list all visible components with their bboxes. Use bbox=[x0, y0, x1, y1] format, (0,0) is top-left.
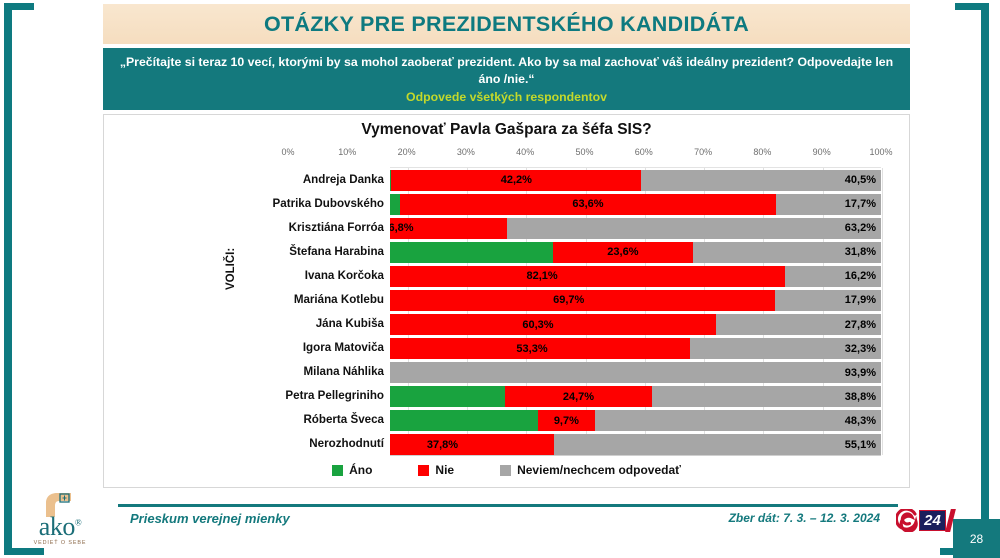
bar-segment-nie: 53,3% bbox=[374, 338, 690, 359]
question-subtitle: Odpovede všetkých respondentov bbox=[406, 90, 607, 104]
x-tick-label: 50% bbox=[575, 147, 593, 157]
bar-segment-nie: 69,7% bbox=[362, 290, 775, 311]
bar-segment-nie: 23,6% bbox=[553, 242, 693, 263]
legend-item: Áno bbox=[332, 463, 372, 477]
category-label: Milana Náhlika bbox=[303, 361, 384, 382]
bar-value-label: 40,5% bbox=[641, 174, 881, 186]
bar-value-label: 42,2% bbox=[391, 174, 641, 186]
legend-label: Nie bbox=[435, 463, 454, 477]
legend-swatch-icon bbox=[332, 465, 343, 476]
legend-item: Neviem/nechcem odpovedať bbox=[500, 463, 681, 477]
bar-segment-neviem: 17,9% bbox=[775, 290, 881, 311]
x-tick-label: 90% bbox=[813, 147, 831, 157]
category-label: Róberta Šveca bbox=[303, 409, 384, 430]
x-tick-label: 40% bbox=[516, 147, 534, 157]
x-tick-label: 60% bbox=[635, 147, 653, 157]
bar-value-label: 48,3% bbox=[595, 415, 881, 427]
legend-label: Neviem/nechcem odpovedať bbox=[517, 463, 681, 477]
bar-value-label: 69,7% bbox=[362, 294, 775, 306]
category-label: Ivana Korčoka bbox=[305, 265, 384, 286]
x-tick-label: 10% bbox=[338, 147, 356, 157]
bar-value-label: 63,2% bbox=[507, 222, 881, 234]
tv24-logo: 24 bbox=[896, 508, 956, 534]
chart-panel: Vymenovať Pavla Gašpara za šéfa SIS? 0%1… bbox=[103, 114, 910, 488]
bar-segment-neviem: 32,3% bbox=[690, 338, 881, 359]
bar-value-label: 27,8% bbox=[716, 319, 881, 331]
bar-segment-neviem: 55,1% bbox=[554, 434, 881, 455]
bar-value-label: 53,3% bbox=[374, 343, 690, 355]
bar-segment-nie: 24,7% bbox=[505, 386, 651, 407]
bar-segment-nie: 42,2% bbox=[391, 170, 641, 191]
category-label: Nerozhodnutí bbox=[309, 433, 384, 454]
chart-legend: ÁnoNieNeviem/nechcem odpovedať bbox=[104, 463, 909, 477]
bar-segment-neviem: 38,8% bbox=[652, 386, 881, 407]
category-label: Jána Kubiša bbox=[316, 313, 384, 334]
legend-swatch-icon bbox=[418, 465, 429, 476]
ako-logo: ako® VEDIEŤ O SEBE bbox=[18, 492, 102, 554]
x-tick-label: 80% bbox=[753, 147, 771, 157]
bar-segment-nie: 9,7% bbox=[538, 410, 595, 431]
bar-segment-neviem: 40,5% bbox=[641, 170, 881, 191]
x-tick-label: 30% bbox=[457, 147, 475, 157]
bar-segment-neviem: 63,2% bbox=[507, 218, 881, 239]
bar-value-label: 63,6% bbox=[400, 198, 777, 210]
bar-value-label: 16,2% bbox=[785, 270, 881, 282]
bar-segment-neviem: 31,8% bbox=[693, 242, 881, 263]
x-tick-label: 70% bbox=[694, 147, 712, 157]
bar-value-label: 38,8% bbox=[652, 391, 881, 403]
frame-right-strip bbox=[981, 3, 989, 555]
slide-title-banner: OTÁZKY PRE PREZIDENTSKÉHO KANDIDÁTA bbox=[103, 4, 910, 44]
legend-swatch-icon bbox=[500, 465, 511, 476]
ako-logo-tagline: VEDIEŤ O SEBE bbox=[18, 540, 102, 546]
chart-x-axis: 0%10%20%30%40%50%60%70%80%90%100% bbox=[288, 147, 881, 161]
bar-segment-nie: 63,6% bbox=[400, 194, 777, 215]
category-label: Štefana Harabina bbox=[289, 241, 384, 262]
chart-category-labels: Andreja DankaPatrika DubovskéhoKrisztián… bbox=[254, 167, 390, 456]
bar-value-label: 31,8% bbox=[693, 246, 881, 258]
category-label: Patrika Dubovského bbox=[273, 193, 384, 214]
bar-value-label: 60,3% bbox=[359, 319, 716, 331]
category-label: Mariána Kotlebu bbox=[294, 289, 384, 310]
footer-caption: Prieskum verejnej mienky bbox=[130, 511, 290, 526]
page-number-badge: 28 bbox=[953, 519, 1000, 558]
frame-top-left bbox=[4, 3, 34, 10]
page-title: OTÁZKY PRE PREZIDENTSKÉHO KANDIDÁTA bbox=[264, 12, 749, 37]
category-label: Andreja Danka bbox=[303, 169, 384, 190]
bar-value-label: 17,9% bbox=[775, 294, 881, 306]
footer-date: Zber dát: 7. 3. – 12. 3. 2024 bbox=[680, 511, 880, 525]
bar-segment-neviem: 48,3% bbox=[595, 410, 881, 431]
bar-value-label: 93,9% bbox=[325, 367, 881, 379]
frame-left-strip bbox=[4, 3, 12, 555]
ako-logo-wordmark: ako® bbox=[18, 514, 102, 540]
question-banner: „Prečítajte si teraz 10 vecí, ktorými by… bbox=[103, 48, 910, 110]
tv24-number: 24 bbox=[919, 510, 946, 531]
footer-divider bbox=[118, 504, 898, 507]
category-label: Igora Matoviča bbox=[303, 337, 384, 358]
slide-root: OTÁZKY PRE PREZIDENTSKÉHO KANDIDÁTA „Pre… bbox=[0, 0, 1000, 558]
bar-value-label: 32,3% bbox=[690, 343, 881, 355]
bar-value-label: 17,7% bbox=[776, 198, 881, 210]
bar-value-label: 24,7% bbox=[505, 391, 651, 403]
frame-top-right bbox=[955, 3, 989, 10]
x-tick-label: 0% bbox=[281, 147, 294, 157]
bar-value-label: 55,1% bbox=[554, 439, 881, 451]
bar-segment-neviem: 27,8% bbox=[716, 314, 881, 335]
chart-y-axis-title: VOLIČI: bbox=[225, 248, 237, 290]
category-label: Petra Pellegriniho bbox=[285, 385, 384, 406]
x-tick-label: 20% bbox=[398, 147, 416, 157]
gridline bbox=[882, 168, 883, 455]
bar-segment-neviem: 16,2% bbox=[785, 266, 881, 287]
category-label: Krisztiána Forróa bbox=[289, 217, 384, 238]
question-text: „Prečítajte si teraz 10 vecí, ktorými by… bbox=[117, 54, 896, 87]
chart-title: Vymenovať Pavla Gašpara za šéfa SIS? bbox=[104, 121, 909, 139]
bar-segment-nie: 60,3% bbox=[359, 314, 716, 335]
tv24-swirl-icon bbox=[896, 509, 918, 532]
bar-segment-neviem: 17,7% bbox=[776, 194, 881, 215]
legend-item: Nie bbox=[418, 463, 454, 477]
x-tick-label: 100% bbox=[869, 147, 892, 157]
bar-segment-neviem: 93,9% bbox=[325, 362, 881, 383]
bar-value-label: 9,7% bbox=[538, 415, 595, 427]
bar-value-label: 23,6% bbox=[553, 246, 693, 258]
legend-label: Áno bbox=[349, 463, 372, 477]
